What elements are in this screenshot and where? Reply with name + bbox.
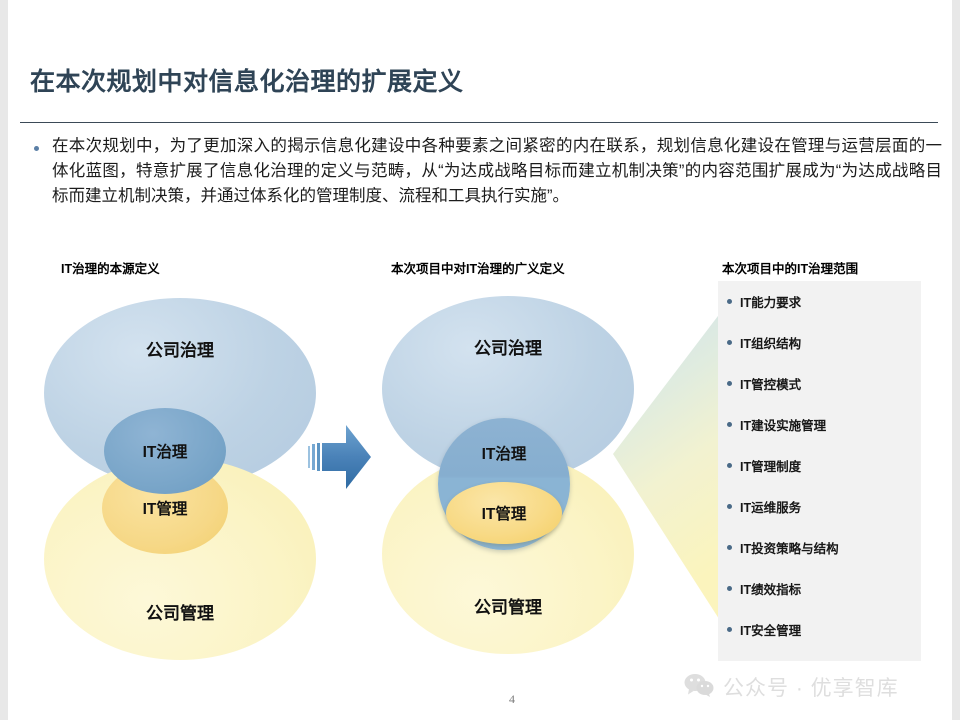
it-governance-scope-panel: IT能力要求 IT组织结构 IT管控模式 IT建设实施管理 IT管理制度 IT运… bbox=[718, 281, 921, 661]
ellipse-label-company-governance-extended: 公司治理 bbox=[474, 334, 542, 359]
watermark: 公众号 · 优享智库 bbox=[684, 672, 899, 702]
list-item-label: IT运维服务 bbox=[740, 497, 801, 516]
list-item-label: IT管控模式 bbox=[740, 374, 801, 393]
bullet-dot-icon bbox=[727, 586, 732, 591]
bullet-dot-icon bbox=[727, 627, 732, 632]
list-item[interactable]: IT建设实施管理 bbox=[718, 404, 921, 445]
list-item-label: IT投资策略与结构 bbox=[740, 538, 839, 557]
page-number: 4 bbox=[509, 692, 515, 707]
bullet-dot-icon bbox=[727, 422, 732, 427]
list-item-label: IT能力要求 bbox=[740, 292, 801, 311]
title-divider bbox=[20, 122, 938, 123]
list-item[interactable]: IT能力要求 bbox=[718, 281, 921, 322]
slide-canvas: 在本次规划中对信息化治理的扩展定义 在本次规划中，为了更加深入的揭示信息化建设中… bbox=[8, 0, 952, 720]
ellipse-label-company-governance: 公司治理 bbox=[146, 336, 214, 361]
watermark-text: 公众号 · 优享智库 bbox=[723, 672, 899, 702]
bullet-dot-icon bbox=[727, 504, 732, 509]
list-item[interactable]: IT绩效指标 bbox=[718, 568, 921, 609]
bullet-dot-icon bbox=[727, 340, 732, 345]
ellipse-label-it-governance-extended: IT治理 bbox=[438, 442, 570, 464]
page-title: 在本次规划中对信息化治理的扩展定义 bbox=[30, 62, 464, 98]
bullet-dot-icon bbox=[727, 545, 732, 550]
ellipse-label-it-governance: IT治理 bbox=[143, 440, 188, 462]
list-item[interactable]: IT投资策略与结构 bbox=[718, 527, 921, 568]
venn-diagram-original: 公司治理 公司管理 IT管理 IT治理 bbox=[36, 290, 326, 670]
venn-diagram-extended: 公司治理 公司管理 IT治理 IT管理 bbox=[376, 290, 666, 670]
list-item-label: IT管理制度 bbox=[740, 456, 801, 475]
list-item[interactable]: IT管理制度 bbox=[718, 445, 921, 486]
ellipse-label-it-management-extended: IT管理 bbox=[482, 502, 527, 524]
bullet-dot-icon bbox=[727, 463, 732, 468]
bullet-dot-icon bbox=[727, 299, 732, 304]
right-arrow-icon bbox=[308, 420, 374, 494]
ellipse-label-company-management-extended: 公司管理 bbox=[474, 593, 542, 618]
list-item[interactable]: IT管控模式 bbox=[718, 363, 921, 404]
ellipse-label-company-management: 公司管理 bbox=[146, 599, 214, 624]
ellipse-label-it-management: IT管理 bbox=[143, 497, 188, 519]
list-item-label: IT组织结构 bbox=[740, 333, 801, 352]
list-item[interactable]: IT运维服务 bbox=[718, 486, 921, 527]
wechat-icon bbox=[684, 673, 714, 702]
ellipse-it-management-extended: IT管理 bbox=[446, 482, 562, 544]
list-item[interactable]: IT安全管理 bbox=[718, 609, 921, 650]
intro-paragraph-text: 在本次规划中，为了更加深入的揭示信息化建设中各种要素之间紧密的内在联系，规划信息… bbox=[52, 134, 942, 209]
bullet-dot-icon bbox=[34, 146, 39, 151]
list-item-label: IT绩效指标 bbox=[740, 579, 801, 598]
bullet-dot-icon bbox=[727, 381, 732, 386]
list-item[interactable]: IT组织结构 bbox=[718, 322, 921, 363]
ellipse-it-governance: IT治理 bbox=[104, 408, 226, 494]
intro-paragraph-block: 在本次规划中，为了更加深入的揭示信息化建设中各种要素之间紧密的内在联系，规划信息… bbox=[30, 134, 942, 209]
list-item-label: IT建设实施管理 bbox=[740, 415, 826, 434]
list-item-label: IT安全管理 bbox=[740, 620, 801, 639]
